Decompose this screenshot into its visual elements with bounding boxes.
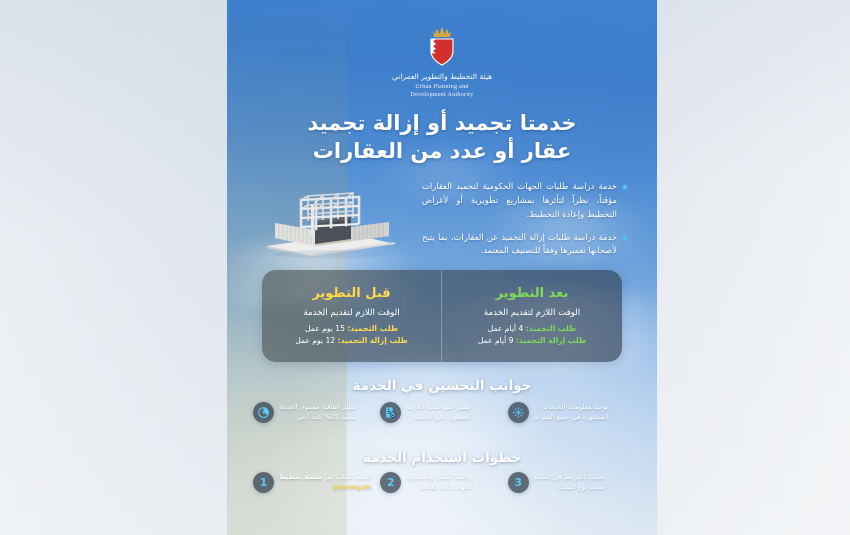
before-unfreeze-value: 12 يوم عمل: [295, 336, 335, 345]
bullet-dot-icon: [623, 185, 627, 189]
before-development-subtitle: الوقت اللازم لتقديم الخدمة: [303, 308, 399, 318]
network-nodes-icon: [508, 402, 529, 423]
step-label: تحديث الخرائط في النظامحسب نوع الطلب: [534, 473, 606, 492]
after-development-subtitle: الوقت اللازم لتقديم الخدمة: [484, 308, 580, 318]
comparison-panel: بعد التطوير الوقت اللازم لتقديم الخدمة ط…: [262, 270, 622, 362]
bahrain-coat-of-arms-icon: [425, 28, 459, 68]
3d-building-model-icon: [255, 186, 405, 260]
before-freeze-label: طلب التجميد:: [347, 324, 398, 333]
after-freeze-row: طلب التجميد: 4 أيام عمل: [488, 323, 577, 335]
after-freeze-value: 4 أيام عمل: [488, 324, 524, 333]
step-number-badge: 2: [380, 472, 401, 493]
step-label: دراسة الطلب واستشارةالجهات ذات العلاقة: [406, 473, 472, 492]
platform-name: منصة تخطيط: [279, 473, 322, 481]
before-development-column: قبل التطوير الوقت اللازم لتقديم الخدمة ط…: [262, 270, 442, 362]
planning-portal-link[interactable]: planning.bh: [333, 484, 370, 491]
after-unfreeze-label: طلب إزالة التجميد:: [516, 336, 586, 345]
improvements-title: جوانب التحسين في الخدمة: [247, 378, 637, 394]
improvement-item-channels: توحيد معلومات الخدماتالمنشورة في جميع ال…: [508, 402, 631, 423]
step-text: تقديم الطلب عبر: [322, 473, 371, 481]
steps-row: تحديث الخرائط في النظامحسب نوع الطلب 3 د…: [253, 472, 631, 493]
after-unfreeze-row: طلب إزالة التجميد: 9 أيام عمل: [478, 335, 586, 347]
after-development-title: بعد التطوير: [496, 286, 569, 301]
authority-logo: هيئة التخطيط والتطوير العمراني Urban Pla…: [227, 28, 657, 99]
before-freeze-row: طلب التجميد: 15 يوم عمل: [305, 323, 398, 335]
list-item: خدمة دراسة طلبات إزالة التجميد عن العقار…: [422, 231, 627, 259]
service-description-list: خدمة دراسة طلبات الجهات الحكومية لتجميد …: [422, 180, 627, 267]
step-item-1: تقديم الطلب عبر منصة تخطيط planning.bh 1: [253, 472, 376, 493]
steps-title: خطوات استخدام الخدمة: [247, 450, 637, 466]
authority-name-english: Urban Planning andDevelopment Authority: [410, 83, 473, 99]
service-infographic-poster: هيئة التخطيط والتطوير العمراني Urban Pla…: [227, 0, 657, 535]
before-unfreeze-row: طلب إزالة التجميد: 12 يوم عمل: [295, 335, 408, 347]
step-item-3: تحديث الخرائط في النظامحسب نوع الطلب 3: [508, 472, 631, 493]
document-check-icon: [380, 402, 401, 423]
after-development-column: بعد التطوير الوقت اللازم لتقديم الخدمة ط…: [442, 270, 622, 362]
page-title: خدمتا تجميد أو إزالة تجميدعقار أو عدد من…: [249, 110, 635, 165]
before-freeze-value: 15 يوم عمل: [305, 324, 345, 333]
improvement-label: تقليل اتفاقية مستوى الخدمةبنسبة 25% كحد …: [279, 403, 356, 422]
bullet-dot-icon: [623, 236, 627, 240]
after-unfreeze-value: 9 أيام عمل: [478, 336, 514, 345]
list-item-label: خدمة دراسة طلبات إزالة التجميد عن العقار…: [422, 231, 617, 259]
step-number-badge: 3: [508, 472, 529, 493]
improvements-row: توحيد معلومات الخدماتالمنشورة في جميع ال…: [253, 402, 631, 423]
list-item-label: خدمة دراسة طلبات الجهات الحكومية لتجميد …: [422, 180, 617, 222]
improvement-item-approvals: تقليل الموافقات اللازمةللحصول على الخدمة: [380, 402, 503, 423]
improvement-label: تقليل الموافقات اللازمةللحصول على الخدمة: [406, 403, 470, 422]
step-number-badge: 1: [253, 472, 274, 493]
authority-name-arabic: هيئة التخطيط والتطوير العمراني: [392, 72, 492, 81]
step-item-2: دراسة الطلب واستشارةالجهات ذات العلاقة 2: [380, 472, 503, 493]
improvement-item-sla: تقليل اتفاقية مستوى الخدمةبنسبة 25% كحد …: [253, 402, 376, 423]
speed-gauge-icon: [253, 402, 274, 423]
before-unfreeze-label: طلب إزالة التجميد:: [338, 336, 408, 345]
step-label: تقديم الطلب عبر منصة تخطيط planning.bh: [279, 473, 371, 492]
improvement-label: توحيد معلومات الخدماتالمنشورة في جميع ال…: [534, 403, 609, 422]
list-item: خدمة دراسة طلبات الجهات الحكومية لتجميد …: [422, 180, 627, 222]
before-development-title: قبل التطوير: [312, 286, 390, 301]
after-freeze-label: طلب التجميد:: [526, 324, 577, 333]
